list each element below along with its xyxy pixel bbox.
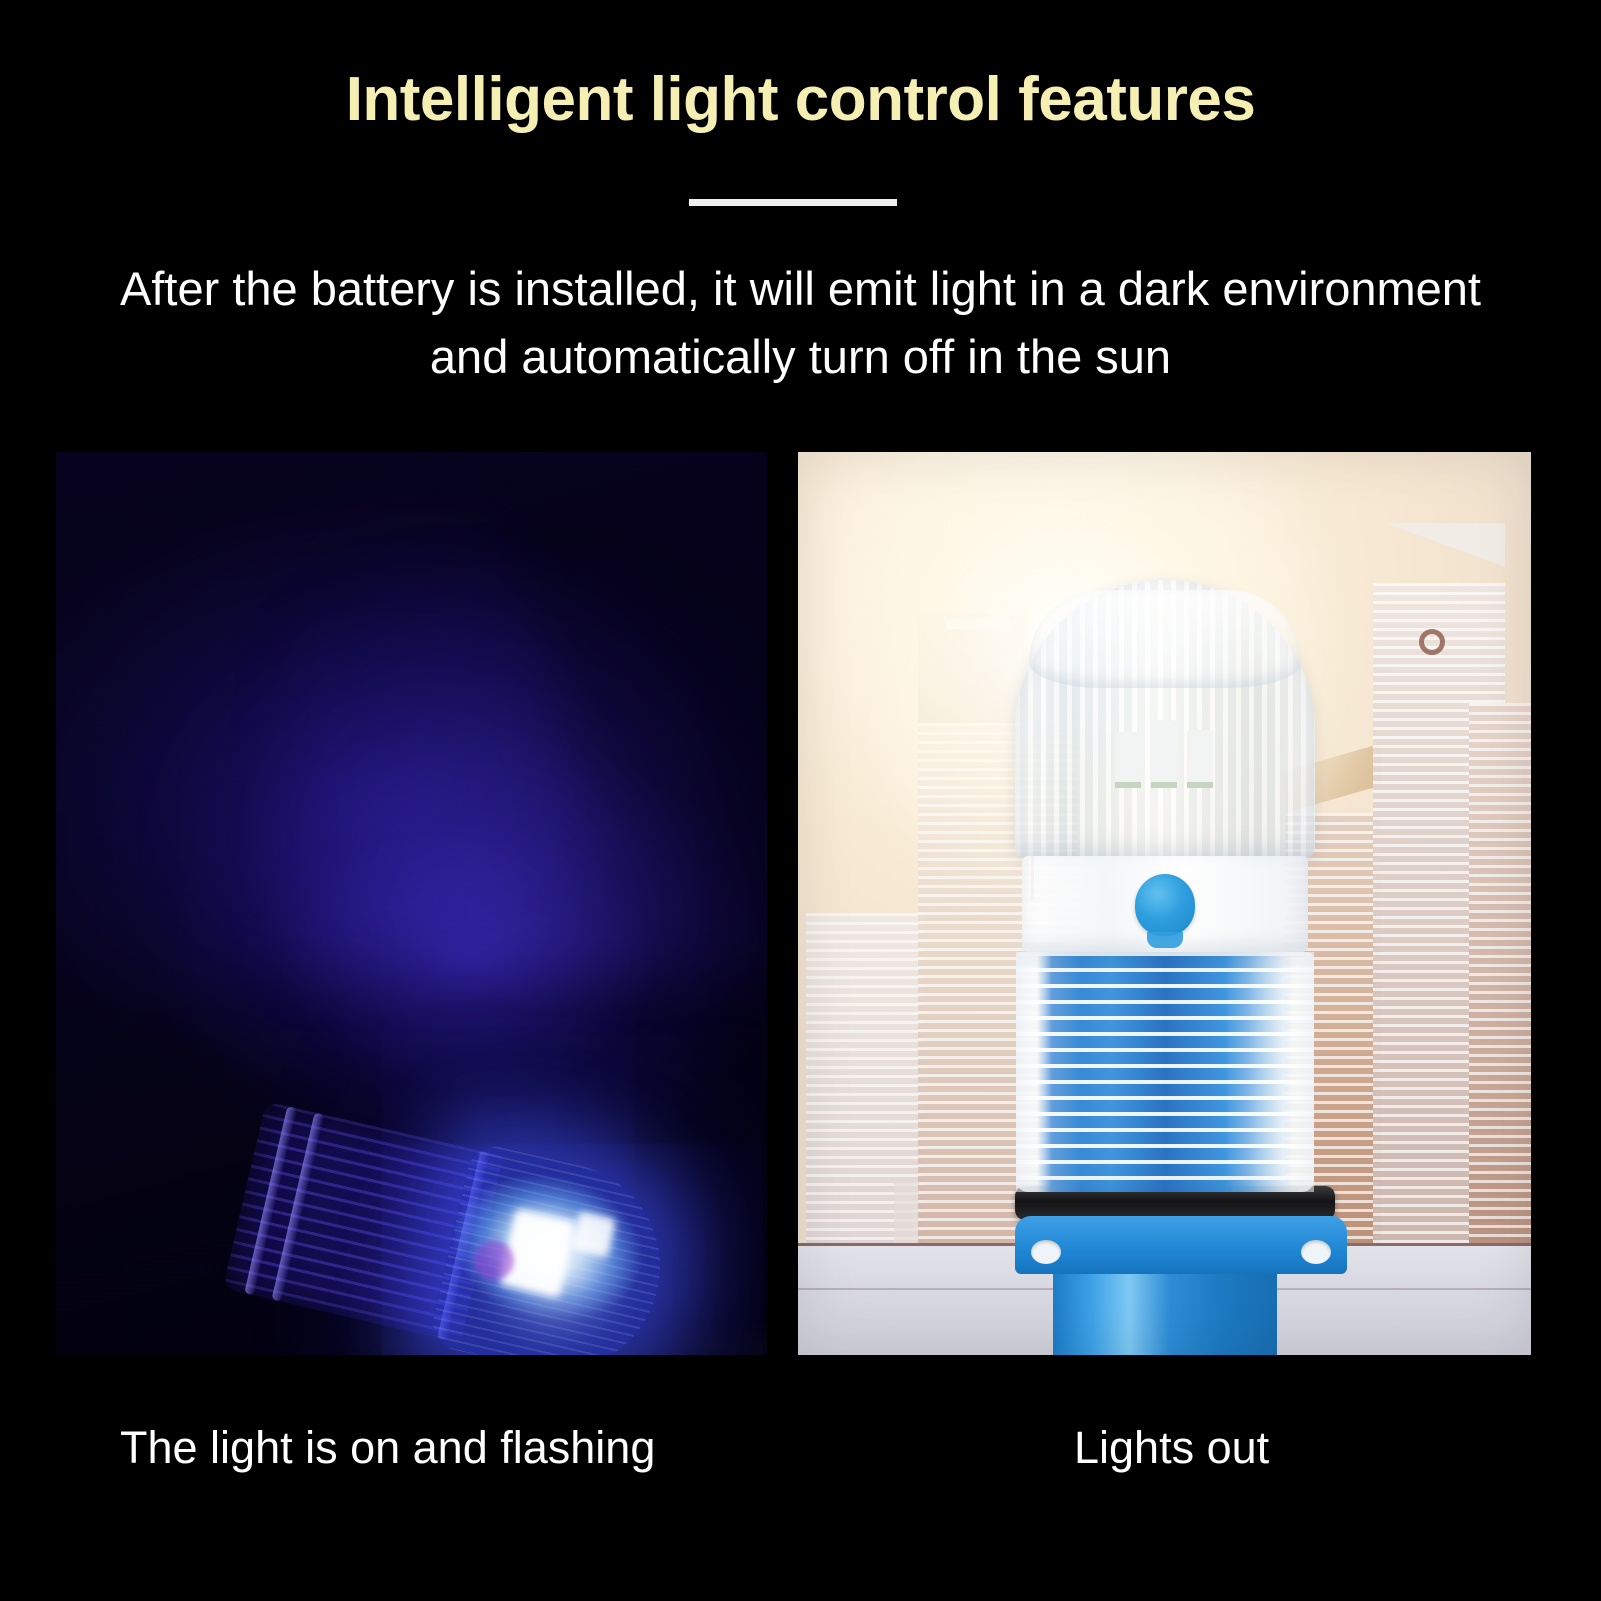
lamp-clear-dome	[1015, 580, 1315, 860]
building-window-rows	[1469, 703, 1531, 1243]
product-feature-slide: Intelligent light control features After…	[0, 0, 1601, 1601]
skyline-building-2	[894, 1181, 920, 1243]
skyline-building-6-roof	[1373, 523, 1505, 583]
skyline-building-3-upper	[918, 613, 1028, 723]
photo-panel-light-on	[56, 452, 767, 1355]
page-title: Intelligent light control features	[0, 64, 1601, 135]
led-chip-2	[1151, 720, 1177, 788]
light-haze-upper-right	[286, 572, 767, 972]
mounting-flange	[1015, 1216, 1347, 1274]
page-subtitle: After the battery is installed, it will …	[60, 255, 1541, 391]
subtitle-line-2: and automatically turn off in the sun	[430, 330, 1171, 383]
lamp-white-collar	[1022, 856, 1308, 952]
building-logo-icon	[1419, 629, 1445, 655]
power-button[interactable]	[1135, 874, 1195, 936]
led-cluster	[1113, 700, 1217, 788]
lamp-ribbed-blue-housing	[1016, 952, 1314, 1192]
beacon-lamp-off	[1015, 580, 1315, 1355]
led-chip-3	[1187, 730, 1213, 788]
led-chip-1	[1115, 732, 1141, 788]
title-divider	[689, 199, 897, 206]
subtitle-line-1: After the battery is installed, it will …	[120, 262, 1481, 315]
mount-hole-left	[1031, 1240, 1061, 1264]
caption-light-on: The light is on and flashing	[120, 1422, 655, 1474]
skyline-building-3-roof-cap	[946, 619, 1010, 629]
mount-hole-right	[1301, 1240, 1331, 1264]
photo-panel-light-off	[798, 452, 1531, 1355]
lamp-base-post	[1053, 1268, 1277, 1355]
caption-light-off: Lights out	[1074, 1422, 1269, 1474]
skyline-building-7	[1469, 703, 1531, 1243]
